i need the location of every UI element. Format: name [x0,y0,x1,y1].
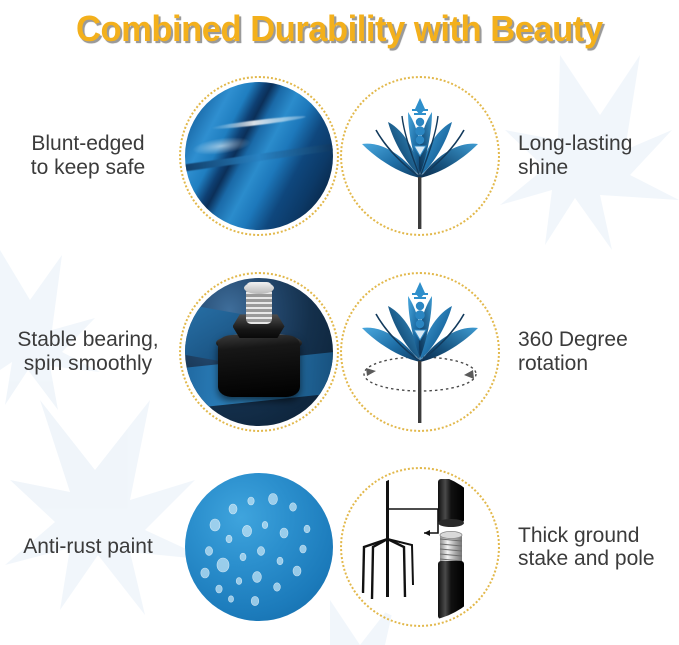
feature-label-long-lasting-shine: Long-lasting shine [500,132,678,179]
dotted-circle-frame [344,80,496,232]
feature-media-water-droplets [178,449,339,645]
feature-label-stable-bearing: Stable bearing, spin smoothly [0,328,178,375]
feature-label-360-rotation: 360 Degree rotation [500,328,678,375]
dotted-circle-frame [183,276,335,428]
feature-row: Anti-rust paint [0,449,679,645]
dotted-circle-frame [344,471,496,623]
feature-media-stake-pole [339,449,500,645]
feature-media-rotation-diagram [339,254,500,450]
page-title: Combined Durability with Beauty [76,8,603,50]
feature-row: Stable bearing, spin smoothly [0,254,679,450]
wind-spinner-icon [346,82,494,230]
spinner-illustration [346,82,494,230]
feature-label-anti-rust-paint: Anti-rust paint [0,535,178,559]
stake-and-pole-diagram [346,473,494,621]
water-droplets-photo [185,473,333,621]
feature-row: Blunt-edged to keep safe [0,58,679,254]
spinner-rotation-diagram [346,278,494,426]
bearing-closeup-photo [185,278,333,426]
dotted-circle-frame [183,80,335,232]
dotted-circle-frame [344,276,496,428]
water-droplets-icon [185,473,333,621]
feature-label-thick-stake-pole: Thick ground stake and pole [500,524,678,571]
feature-media-bearing-closeup [178,254,339,450]
plain-circle-frame [183,471,335,623]
feature-media-blade-closeup [178,58,339,254]
blade-closeup-photo [185,82,333,230]
rotation-arrow-icon [346,278,494,426]
feature-label-blunt-edged: Blunt-edged to keep safe [0,132,178,179]
feature-grid: Blunt-edged to keep safe [0,58,679,645]
ground-stake-and-pole-icon [346,473,494,621]
feature-media-spinner-shine [339,58,500,254]
title-banner: Combined Durability with Beauty [0,0,679,58]
